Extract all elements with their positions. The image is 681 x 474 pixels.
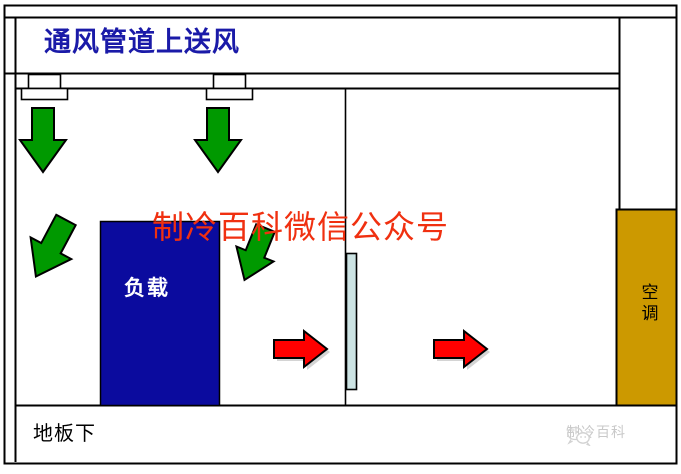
- main-watermark-text: 制冷百科微信公众号: [152, 211, 449, 243]
- air-conditioner-label: 空调: [640, 283, 660, 326]
- diagram-canvas: 通风管道上送风 负载 空调 地板下 制冷百科微信公众号 制冷百科: [0, 0, 681, 474]
- load-block: [101, 222, 220, 406]
- wechat-logo-icon: [566, 426, 592, 446]
- partition-panel: [347, 254, 357, 390]
- brand-watermark: 制冷百科: [566, 426, 626, 440]
- underfloor-label: 地板下: [33, 423, 96, 443]
- ceiling-diffuser-right: [207, 75, 253, 100]
- ceiling-diffuser-left: [22, 75, 68, 100]
- load-block-label: 负载: [124, 278, 170, 299]
- diagram-title: 通风管道上送风: [44, 29, 240, 56]
